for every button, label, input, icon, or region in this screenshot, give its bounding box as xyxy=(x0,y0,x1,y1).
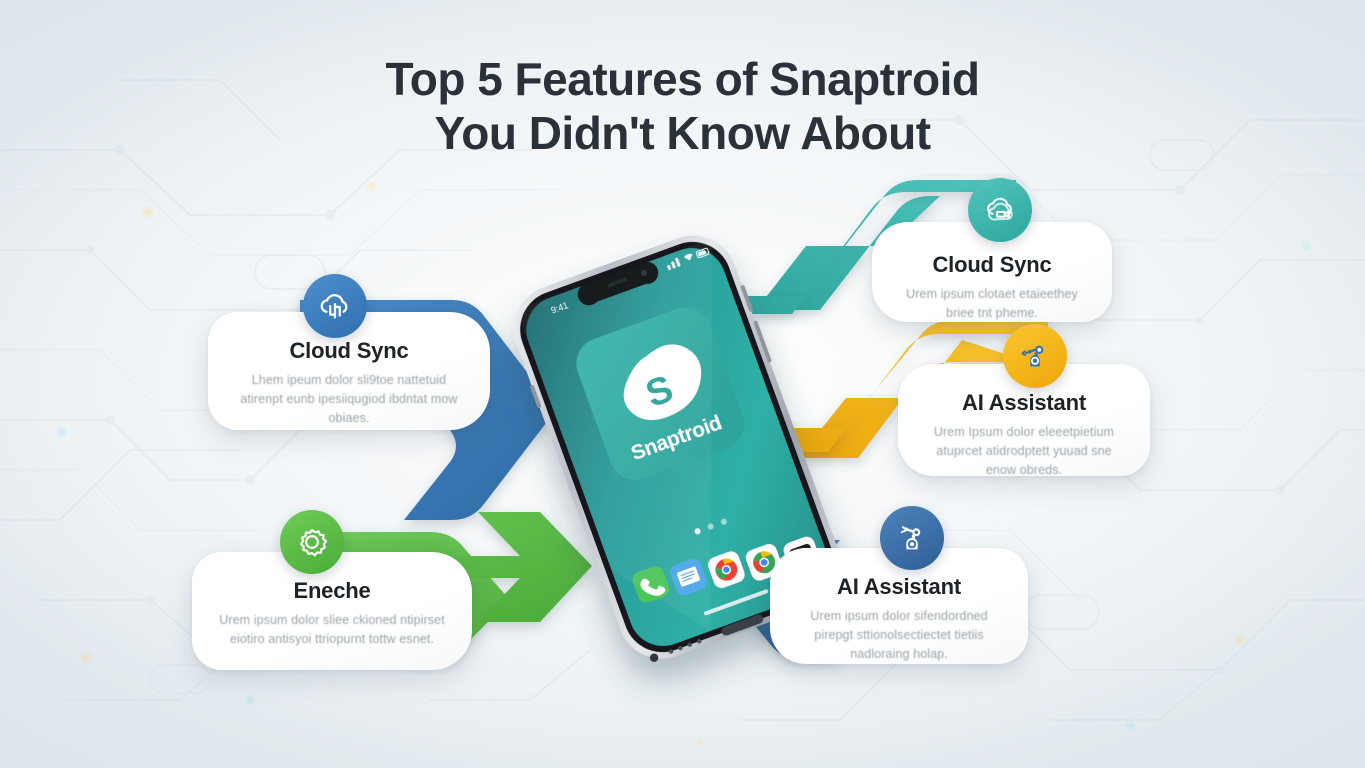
title-line-2: You Didn't Know About xyxy=(0,106,1365,160)
gear-icon xyxy=(280,510,344,574)
card-title: Cloud Sync xyxy=(894,252,1090,278)
cloud-sync-icon xyxy=(303,274,367,338)
page-title: Top 5 Features of Snaptroid You Didn't K… xyxy=(0,52,1365,161)
card-title: Cloud Sync xyxy=(230,338,468,364)
card-title: AI Assistant xyxy=(792,574,1006,600)
robot-arm-icon xyxy=(1003,324,1067,388)
card-body: Urem Ipsum dolor eleeetpietium atuprcet … xyxy=(920,423,1128,480)
card-body: Lhem ipeum dolor sli9toe nattetuid atire… xyxy=(230,371,468,428)
card-body: Urem ipsum dolor sliee ckioned ntipirset… xyxy=(214,611,450,649)
card-title: AI Assistant xyxy=(920,390,1128,416)
robot-arm-icon xyxy=(880,506,944,570)
card-body: Urem ipsum clotaet etaieethey briee tnt … xyxy=(894,285,1090,323)
card-title: Eneche xyxy=(214,578,450,604)
feature-card-eneche[interactable]: Eneche Urem ipsum dolor sliee ckioned nt… xyxy=(192,552,472,670)
title-line-1: Top 5 Features of Snaptroid xyxy=(0,52,1365,106)
infographic-canvas: Top 5 Features of Snaptroid You Didn't K… xyxy=(0,0,1365,768)
card-body: Urem ipsum dolor sifendordned pirepgt st… xyxy=(792,607,1006,664)
cloud-refresh-icon xyxy=(968,178,1032,242)
